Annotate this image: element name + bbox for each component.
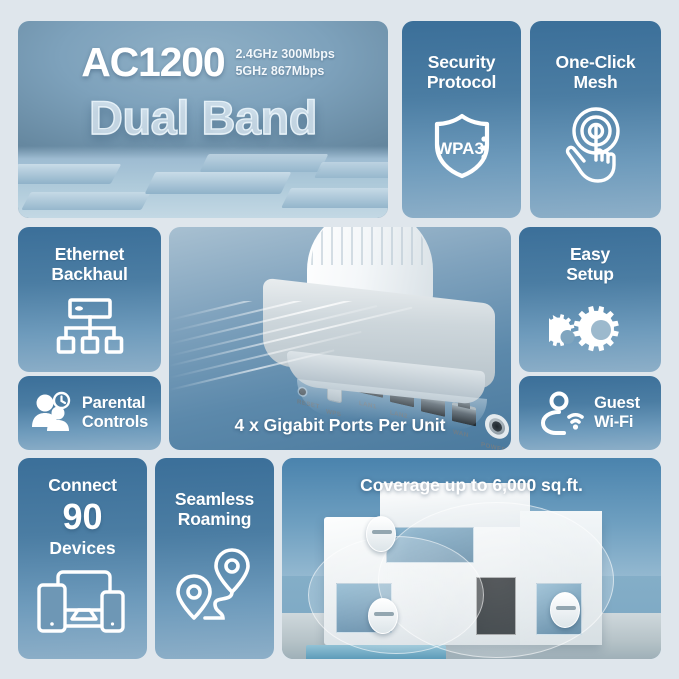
device-count: 90 <box>62 499 102 535</box>
coverage-bubble <box>378 502 614 658</box>
mesh-node <box>368 598 398 634</box>
hero-headline: Dual Band <box>89 90 317 145</box>
hero-slab <box>21 192 151 210</box>
svg-text:WPA3: WPA3 <box>436 139 484 158</box>
panel-security-protocol: Security Protocol WPA3 <box>402 21 521 218</box>
panel-gigabit-ports: RESET WPS LAN1 LAN2 LAN3 WAN POWER 4 x G… <box>169 227 511 450</box>
hero-spec-row: AC1200 2.4GHz 300Mbps 5GHz 867Mbps <box>71 39 335 86</box>
panel-ethernet-backhaul: Ethernet Backhaul <box>18 227 161 372</box>
people-clock-icon <box>31 391 75 435</box>
panel-one-click-mesh: One-Click Mesh <box>530 21 661 218</box>
mesh-title: One-Click Mesh <box>556 52 636 93</box>
map-pins-path-icon <box>175 546 255 624</box>
security-title: Security Protocol <box>427 52 496 93</box>
panel-guest-wifi: Guest Wi-Fi <box>519 376 661 450</box>
shield-wpa3-icon: WPA3 <box>426 109 498 181</box>
panel-dual-band-hero: AC1200 2.4GHz 300Mbps 5GHz 867Mbps Dual … <box>18 21 388 218</box>
panel-parental-controls: Parental Controls <box>18 376 161 450</box>
hero-slab <box>200 154 329 172</box>
label-wan: WAN <box>453 429 469 440</box>
tap-hand-wireless-icon <box>557 105 635 185</box>
mesh-node <box>550 592 580 628</box>
network-switch-icon <box>55 297 125 361</box>
panel-connect-devices: Connect 90 Devices <box>18 458 147 659</box>
gears-icon <box>549 299 631 361</box>
panel-seamless-roaming: Seamless Roaming <box>155 458 274 659</box>
connect-title: Connect <box>48 475 117 495</box>
easy-setup-title: Easy Setup <box>566 244 614 285</box>
light-streaks <box>169 301 469 413</box>
parental-title: Parental Controls <box>82 394 148 432</box>
roaming-title: Seamless Roaming <box>175 489 254 530</box>
ethernet-title: Ethernet Backhaul <box>51 244 127 285</box>
guest-wifi-icon <box>540 391 586 435</box>
band-24ghz: 2.4GHz 300Mbps <box>235 46 334 63</box>
coverage-title: Coverage up to 6,000 sq.ft. <box>360 475 583 496</box>
router-dome-ribs <box>311 227 429 265</box>
devices-label: Devices <box>49 538 115 559</box>
band-specs: 2.4GHz 300Mbps 5GHz 867Mbps <box>235 46 334 80</box>
model-name: AC1200 <box>81 39 224 86</box>
hero-slab <box>145 172 292 194</box>
band-5ghz: 5GHz 867Mbps <box>235 63 334 80</box>
guest-wifi-title: Guest Wi-Fi <box>594 394 640 432</box>
power-jack <box>485 412 509 441</box>
panel-coverage: Coverage up to 6,000 sq.ft. <box>282 458 661 659</box>
devices-icon <box>36 569 130 635</box>
infographic-board: AC1200 2.4GHz 300Mbps 5GHz 867Mbps Dual … <box>0 0 679 679</box>
mesh-node <box>366 516 396 552</box>
hero-slab <box>281 188 388 208</box>
hero-slab <box>314 162 388 178</box>
panel-easy-setup: Easy Setup <box>519 227 661 372</box>
router-caption: 4 x Gigabit Ports Per Unit <box>234 415 445 436</box>
hero-slab <box>18 164 121 184</box>
label-power: POWER <box>481 441 506 450</box>
